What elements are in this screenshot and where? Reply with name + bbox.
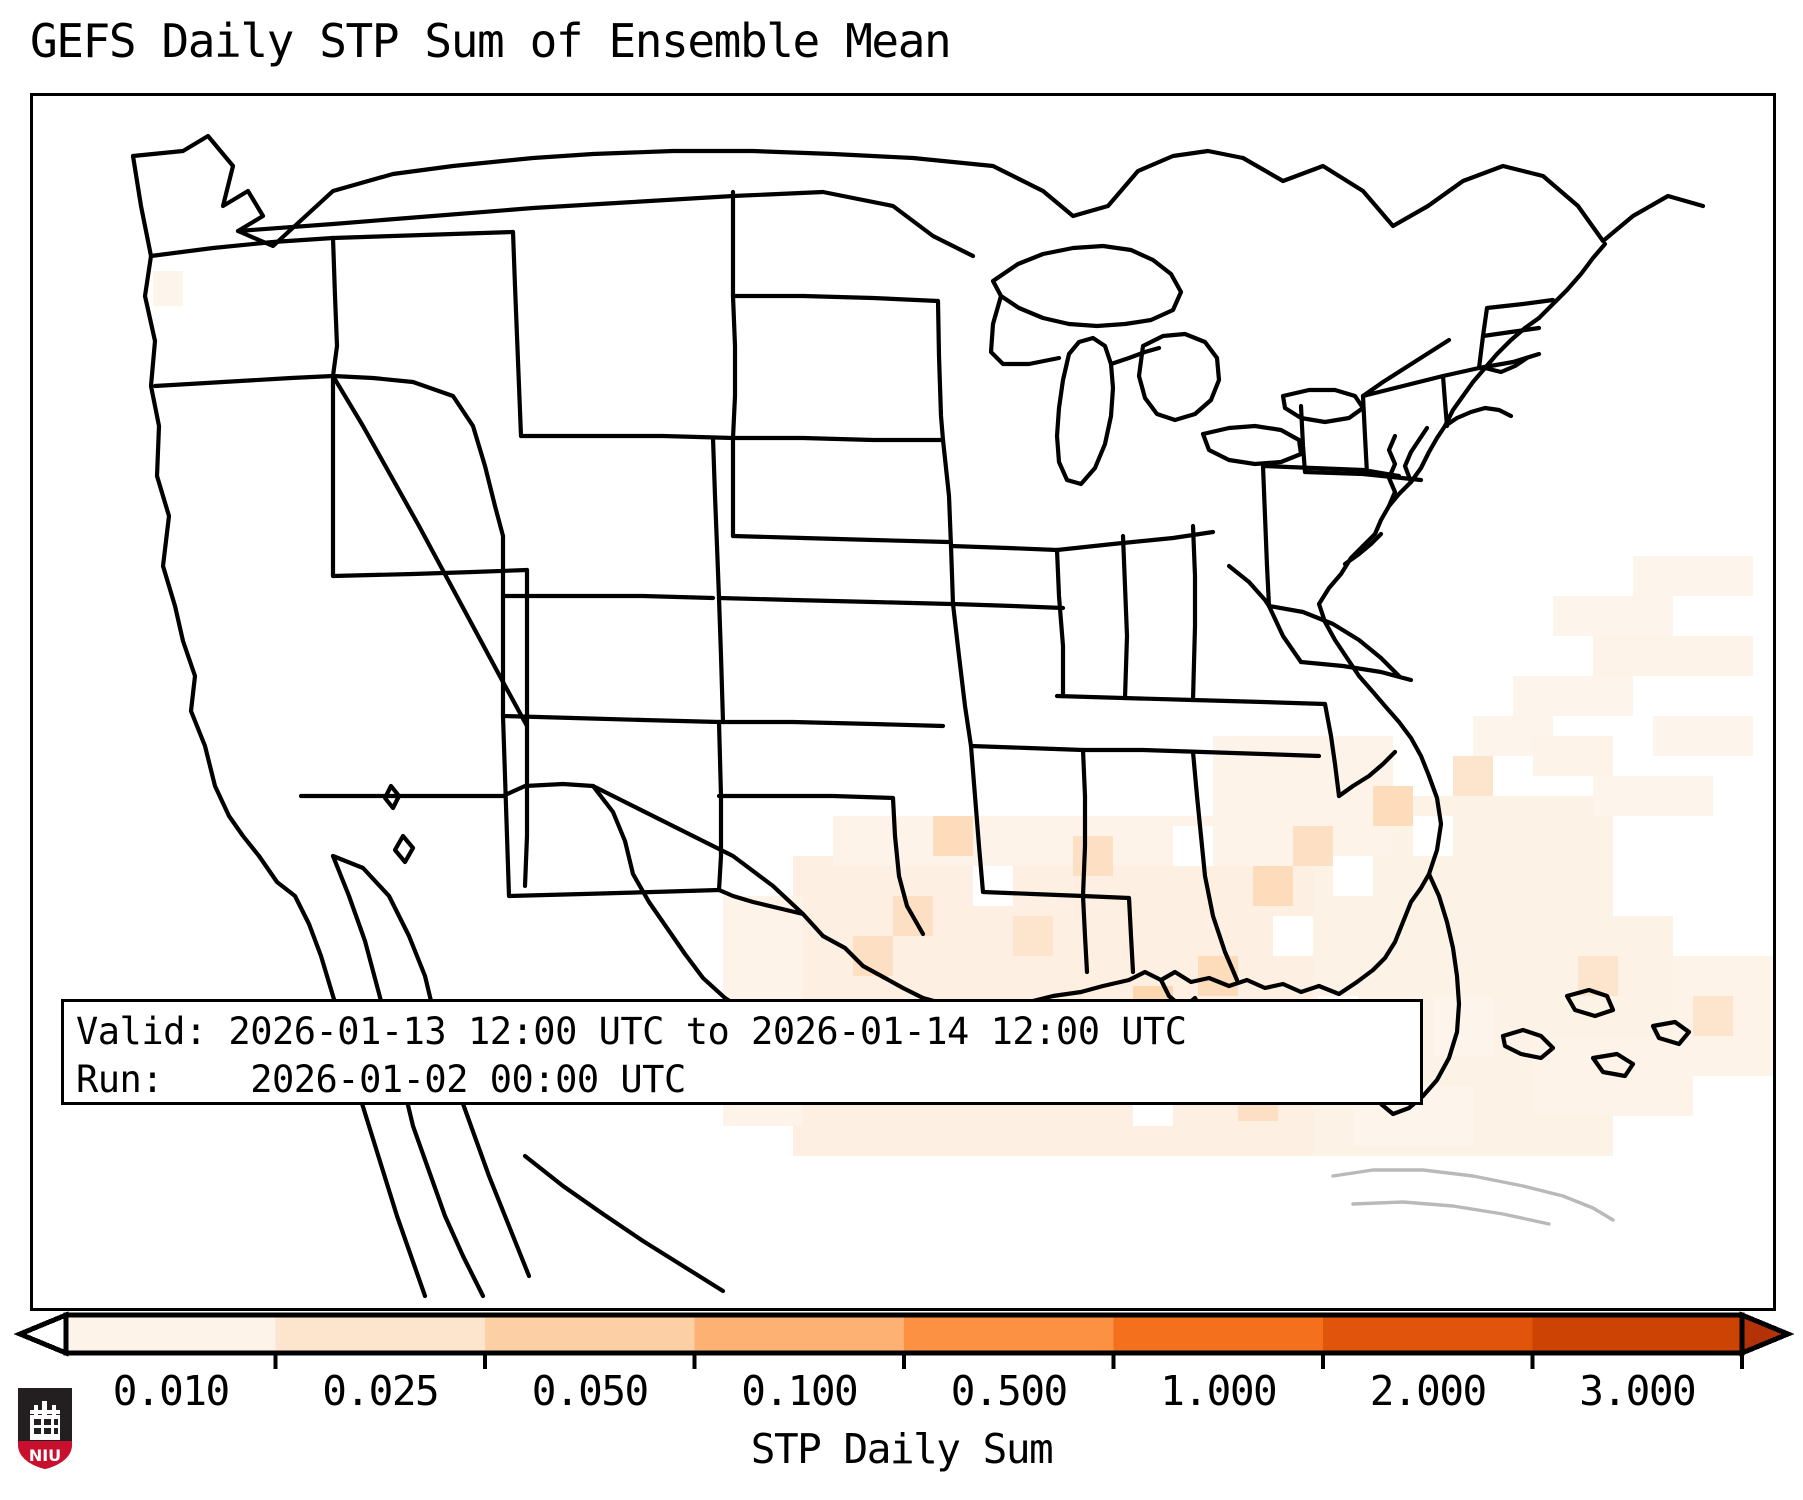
- figure-root: GEFS Daily STP Sum of Ensemble Mean: [0, 0, 1803, 1500]
- niu-logo: NIU: [14, 1385, 76, 1471]
- colorbar-segment-6: [1323, 1315, 1533, 1353]
- colorbar-tick-label-4: 0.500: [951, 1368, 1067, 1414]
- colorbar-tick-label-0: 0.010: [113, 1368, 229, 1414]
- colorbar[interactable]: [0, 1311, 1803, 1371]
- colorbar-axis-label: STP Daily Sum: [0, 1424, 1803, 1474]
- colorbar-segment-2: [485, 1315, 695, 1353]
- colorbar-tick-label-6: 2.000: [1370, 1368, 1486, 1414]
- colorbar-tick-labels: 0.0100.0250.0500.1000.5001.0002.0003.000: [0, 1368, 1803, 1424]
- niu-logo-text: NIU: [29, 1446, 61, 1465]
- geography-layer: [33, 96, 1773, 1308]
- colorbar-segment-3: [695, 1315, 905, 1353]
- colorbar-segment-1: [276, 1315, 486, 1353]
- run-time-line: Run: 2026-01-02 00:00 UTC: [76, 1056, 1420, 1104]
- colorbar-svg[interactable]: [0, 1311, 1803, 1371]
- colorbar-tick-label-3: 0.100: [741, 1368, 857, 1414]
- colorbar-segments: [66, 1315, 1742, 1353]
- colorbar-tick-label-7: 3.000: [1579, 1368, 1695, 1414]
- map-panel[interactable]: Valid: 2026-01-13 12:00 UTC to 2026-01-1…: [30, 93, 1776, 1311]
- colorbar-segment-4: [904, 1315, 1114, 1353]
- colorbar-under-arrow: [20, 1315, 66, 1353]
- colorbar-over-arrow: [1742, 1315, 1788, 1353]
- colorbar-tick-label-5: 1.000: [1160, 1368, 1276, 1414]
- colorbar-segment-5: [1114, 1315, 1324, 1353]
- colorbar-tick-label-2: 0.050: [532, 1368, 648, 1414]
- info-box: Valid: 2026-01-13 12:00 UTC to 2026-01-1…: [61, 999, 1423, 1105]
- colorbar-segment-0: [66, 1315, 276, 1353]
- page-title: GEFS Daily STP Sum of Ensemble Mean: [30, 14, 950, 68]
- colorbar-segment-7: [1533, 1315, 1743, 1353]
- valid-time-line: Valid: 2026-01-13 12:00 UTC to 2026-01-1…: [76, 1008, 1420, 1056]
- colorbar-tick-label-1: 0.025: [322, 1368, 438, 1414]
